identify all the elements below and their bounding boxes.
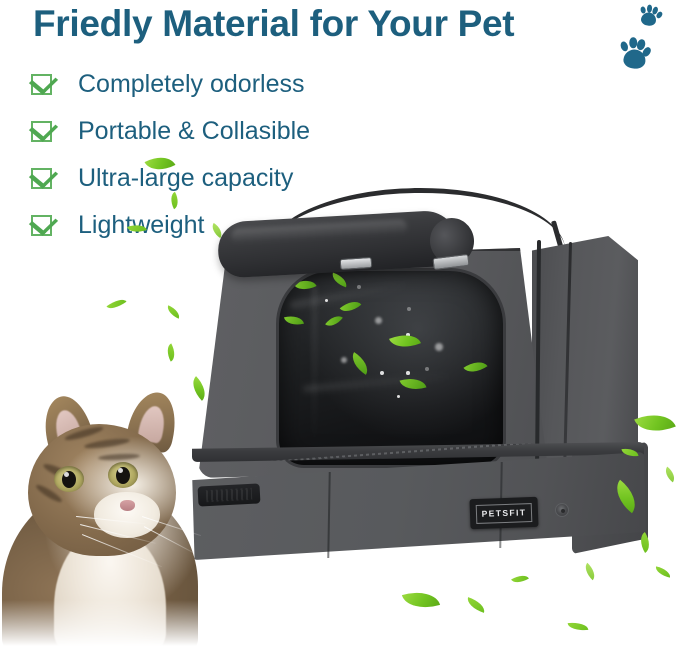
airflow-sparkle bbox=[406, 371, 410, 375]
leaf-icon bbox=[163, 343, 178, 361]
leaf-icon bbox=[568, 621, 589, 632]
product-feature-banner: Friedly Material for Your Pet Completely… bbox=[0, 0, 679, 656]
checkbox-checked-icon bbox=[30, 117, 56, 143]
cat-head bbox=[28, 424, 176, 556]
paw-print-decoration bbox=[620, 2, 676, 84]
checkbox-checked-icon bbox=[30, 164, 56, 190]
feature-item-portable: Portable & Collasible bbox=[30, 111, 370, 158]
brand-label: PETSFIT bbox=[469, 497, 538, 529]
airflow-sparkle bbox=[425, 367, 429, 371]
airflow-sparkle bbox=[380, 371, 384, 375]
window-sheen bbox=[313, 285, 316, 455]
feature-label: Completely odorless bbox=[78, 64, 305, 104]
brand-name-text: PETSFIT bbox=[481, 507, 526, 519]
airflow-sparkle bbox=[435, 343, 443, 351]
tabby-cat-photo bbox=[2, 388, 214, 656]
leaf-icon bbox=[511, 572, 529, 587]
airflow-sparkle bbox=[397, 395, 400, 398]
photo-fade-mask bbox=[2, 600, 214, 656]
leaf-icon bbox=[402, 586, 440, 615]
airflow-sparkle bbox=[325, 299, 328, 302]
window-sheen bbox=[303, 372, 453, 392]
checkbox-checked-icon bbox=[30, 70, 56, 96]
checkbox-checked-icon bbox=[30, 211, 56, 237]
leaf-icon bbox=[284, 313, 304, 328]
leaf-icon bbox=[465, 597, 487, 613]
feature-item-odorless: Completely odorless bbox=[30, 64, 370, 111]
paw-toe bbox=[629, 37, 637, 48]
carrier-right-side-panel bbox=[532, 236, 638, 478]
leaf-icon bbox=[330, 273, 349, 288]
leaf-icon bbox=[325, 312, 343, 331]
feature-label: Portable & Collasible bbox=[78, 111, 310, 151]
leaf-icon bbox=[106, 295, 126, 313]
cat-eye-left bbox=[54, 466, 84, 492]
cat-nose bbox=[120, 500, 135, 511]
mesh-ventilation-window bbox=[276, 268, 506, 468]
leaf-icon bbox=[347, 352, 373, 375]
pet-carrier-product: PETSFIT bbox=[180, 190, 679, 570]
leaf-icon bbox=[463, 356, 487, 378]
leaf-icon bbox=[389, 328, 421, 353]
airflow-sparkle bbox=[407, 307, 411, 311]
airflow-sparkle bbox=[375, 317, 382, 324]
airflow-sparkle bbox=[357, 285, 361, 289]
zipper-pull bbox=[340, 257, 373, 270]
cat-eye-right bbox=[108, 462, 138, 488]
page-title: Friedly Material for Your Pet bbox=[33, 2, 514, 46]
airflow-sparkle bbox=[341, 357, 347, 363]
